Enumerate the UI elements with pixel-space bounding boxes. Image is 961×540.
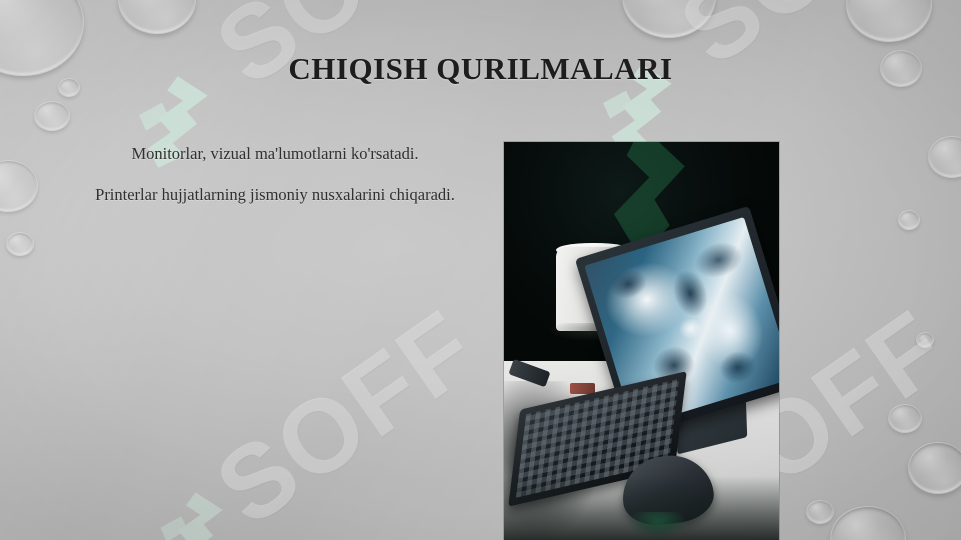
background-vignette bbox=[0, 0, 961, 540]
presentation-slide: SOFF SOFF SOFF SOFF CHIQISH QURILMALAR bbox=[0, 0, 961, 540]
